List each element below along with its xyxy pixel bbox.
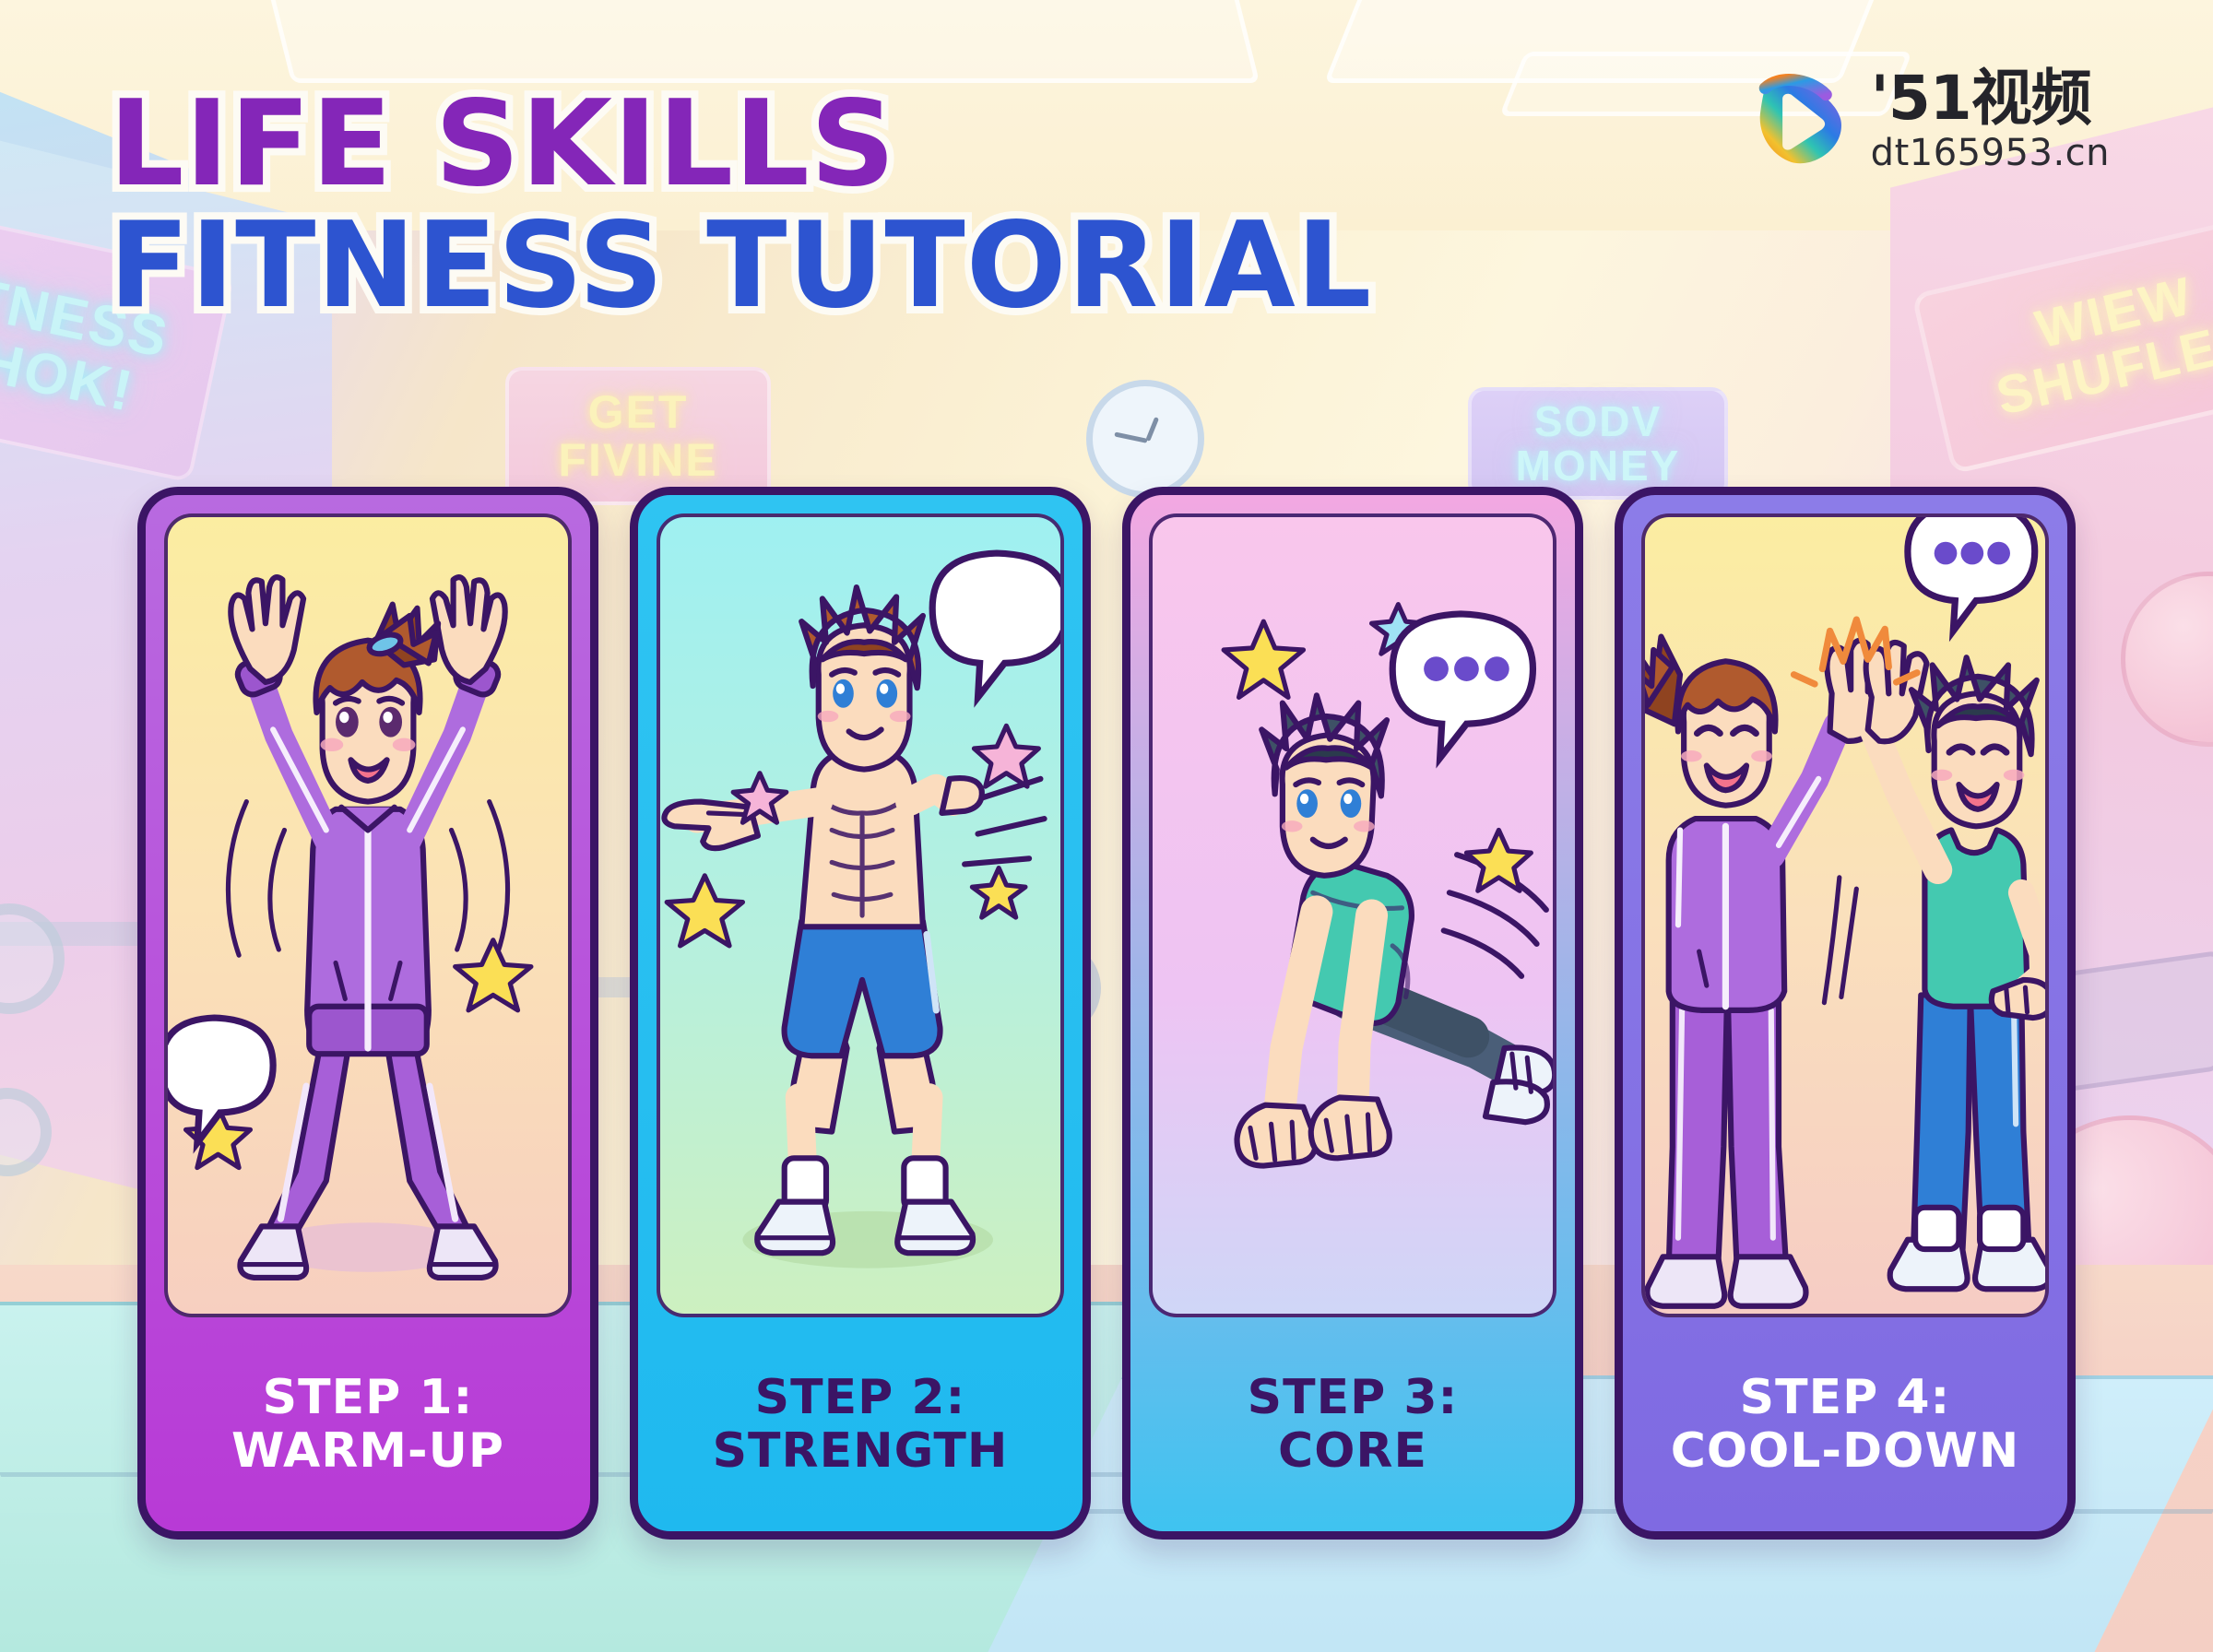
- step-2-step-line: STEP 2:: [755, 1371, 966, 1424]
- step-3-illustration: [1149, 513, 1556, 1317]
- step-2-illustration: [657, 513, 1064, 1317]
- step-card-3[interactable]: STEP 3: CORE: [1122, 487, 1583, 1540]
- step-4-step-line: STEP 4:: [1740, 1371, 1951, 1424]
- step-3-step-line: STEP 3:: [1248, 1371, 1459, 1424]
- brand-name: '51视频: [1871, 68, 2091, 129]
- girl-jumping-jacks-illustration: [168, 517, 568, 1314]
- page-title: LIFE SKILLS FITNESS TUTORIAL: [109, 88, 1372, 322]
- wall-clock-icon: [1086, 380, 1204, 498]
- step-1-step-line: STEP 1:: [263, 1371, 474, 1424]
- step-3-label: STEP 3: CORE: [1130, 1317, 1575, 1531]
- step-3-name-line: CORE: [1278, 1424, 1427, 1478]
- step-4-illustration: [1641, 513, 2049, 1317]
- sign-get-fivine: GET FIVINE: [505, 367, 771, 505]
- step-card-2[interactable]: STEP 2: STRENGTH: [630, 487, 1091, 1540]
- speech-bubble: [1392, 614, 1533, 758]
- play-triangle-gradient-logo-icon: [1746, 66, 1854, 175]
- brand-logo: '51视频 dt165953.cn: [1746, 66, 2110, 175]
- step-2-name-line: STRENGTH: [713, 1424, 1009, 1478]
- high-five-illustration: [1645, 517, 2045, 1314]
- boy-plank-illustration: [1153, 517, 1553, 1314]
- sign-soda-money: SODV MONEY: [1468, 387, 1728, 500]
- title-line-2: FITNESS TUTORIAL: [109, 210, 1372, 323]
- speech-bubble: [1908, 517, 2035, 631]
- step-1-name-line: WARM-UP: [231, 1424, 504, 1478]
- boy-squat-illustration: [660, 517, 1060, 1314]
- ceiling-panel: [262, 0, 1260, 83]
- step-2-label: STEP 2: STRENGTH: [638, 1317, 1083, 1531]
- step-4-name-line: COOL-DOWN: [1671, 1424, 2020, 1478]
- step-card-1[interactable]: STEP 1: WARM-UP: [137, 487, 598, 1540]
- step-1-illustration: [164, 513, 572, 1317]
- title-line-1: LIFE SKILLS: [109, 88, 1372, 201]
- steps-row: STEP 1: WARM-UP: [0, 487, 2213, 1540]
- speech-bubble: [932, 553, 1060, 697]
- step-4-label: STEP 4: COOL-DOWN: [1623, 1317, 2067, 1531]
- step-card-4[interactable]: STEP 4: COOL-DOWN: [1615, 487, 2076, 1540]
- step-1-label: STEP 1: WARM-UP: [146, 1317, 590, 1531]
- brand-url: dt165953.cn: [1871, 133, 2110, 173]
